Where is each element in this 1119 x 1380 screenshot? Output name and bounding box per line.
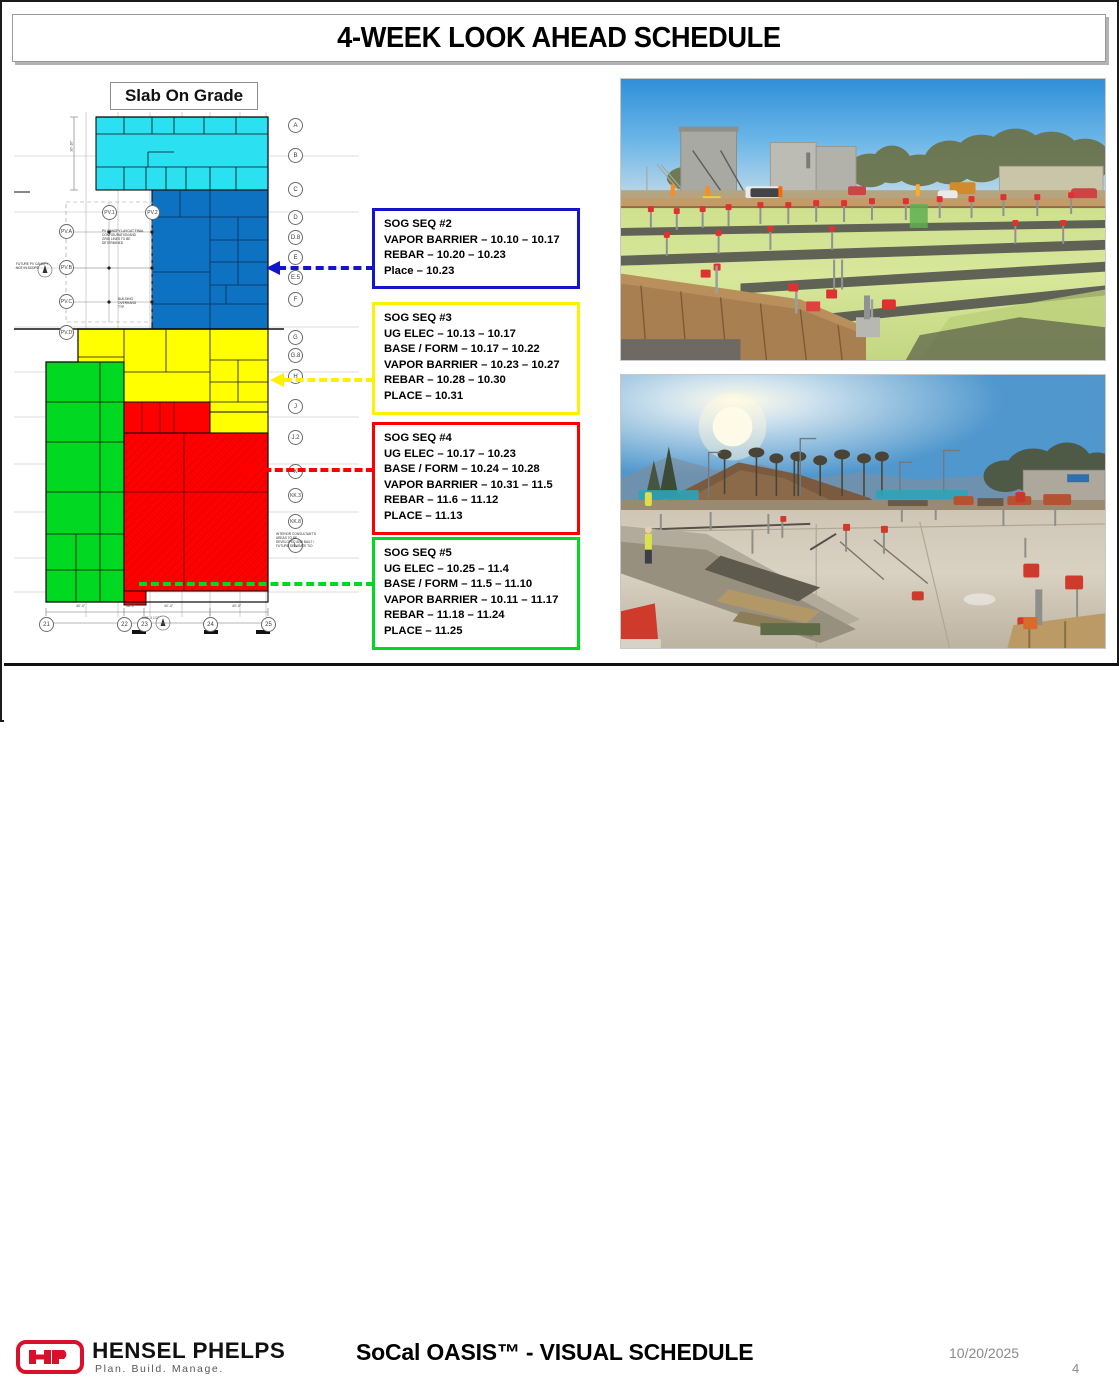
- connector-seq4: [252, 468, 374, 472]
- connector-seq2: [278, 266, 374, 270]
- grid-bubble-E: E: [288, 250, 303, 265]
- callout-seq5-line-3: BASE / FORM – 11.5 – 11.10: [384, 577, 569, 593]
- plan-dim-1: 40'-0": [76, 604, 85, 608]
- callout-seq4-line-1: SOG SEQ #4: [384, 431, 569, 447]
- callout-seq4-line-3: BASE / FORM – 10.24 – 10.28: [384, 462, 569, 478]
- grid-bubble-G: G: [288, 330, 303, 345]
- floor-plan-drawing: [14, 72, 359, 652]
- grid-bubble-21: 21: [39, 617, 54, 632]
- grid-bubble-A: A: [288, 118, 303, 133]
- connector-seq3: [284, 378, 374, 382]
- connector-seq4-arrowhead: [236, 463, 252, 477]
- grid-bubble-PVC: PV.C: [59, 294, 74, 309]
- plan-dim-total: 138'-4 1/2": [142, 616, 159, 620]
- grid-bubble-D: D: [288, 210, 303, 225]
- grid-bubble-PVA: PV.A: [59, 224, 74, 239]
- footer-bar: HENSEL PHELPS Plan. Build. Manage. SoCal…: [4, 666, 1119, 722]
- callout-seq4-line-4: VAPOR BARRIER – 10.31 – 11.5: [384, 478, 569, 494]
- callout-seq5-line-4: VAPOR BARRIER – 10.11 – 11.17: [384, 593, 569, 609]
- grid-bubble-PVD: PV.D: [59, 325, 74, 340]
- slab-on-grade-label: Slab On Grade: [110, 82, 258, 110]
- grid-bubble-PV2: PV.2: [145, 205, 160, 220]
- hp-logo-icon: [16, 1340, 84, 1374]
- slide-canvas: 4-WEEK LOOK AHEAD SCHEDULE: [0, 0, 1119, 722]
- grid-bubble-PVB: PV.B: [59, 260, 74, 275]
- grid-bubble-G8: G.8: [288, 348, 303, 363]
- grid-bubble-22: 22: [117, 617, 132, 632]
- floor-plan: A B C D D.8 E E.5 F G G.8 H J J.2 K KK.3…: [14, 72, 359, 652]
- plan-dim-4: 40'-0": [232, 604, 241, 608]
- callout-seq2-line-2: VAPOR BARRIER – 10.10 – 10.17: [384, 233, 569, 249]
- callout-sog-seq-2[interactable]: SOG SEQ #2 VAPOR BARRIER – 10.10 – 10.17…: [372, 208, 580, 289]
- company-name: HENSEL PHELPS: [92, 1338, 285, 1364]
- company-tagline: Plan. Build. Manage.: [95, 1363, 224, 1375]
- callout-seq5-line-5: REBAR – 11.18 – 11.24: [384, 608, 569, 624]
- callout-seq3-line-6: PLACE – 10.31: [384, 389, 569, 405]
- callout-seq2-line-1: SOG SEQ #2: [384, 217, 569, 233]
- plan-dim-3: 40'-0": [164, 604, 173, 608]
- callout-seq3-line-5: REBAR – 10.28 – 10.30: [384, 373, 569, 389]
- grid-bubble-PV1: PV.1: [102, 205, 117, 220]
- plan-note-overhang: BUILDING OVERHANG TYP: [118, 297, 136, 309]
- plan-dim-left: 36'-10": [70, 140, 74, 151]
- plan-dim-2: 18'-0": [126, 604, 135, 608]
- callout-seq3-line-4: VAPOR BARRIER – 10.23 – 10.27: [384, 358, 569, 374]
- callout-seq3-line-3: BASE / FORM – 10.17 – 10.22: [384, 342, 569, 358]
- photo-slab-vapor-barrier[interactable]: [620, 78, 1106, 361]
- grid-bubble-E5: E.5: [288, 270, 303, 285]
- callout-sog-seq-5[interactable]: SOG SEQ #5 UG ELEC – 10.25 – 11.4 BASE /…: [372, 537, 580, 650]
- grid-bubble-D8: D.8: [288, 230, 303, 245]
- hensel-phelps-logo: HENSEL PHELPS Plan. Build. Manage.: [16, 1338, 316, 1380]
- callout-sog-seq-4[interactable]: SOG SEQ #4 UG ELEC – 10.17 – 10.23 BASE …: [372, 422, 580, 535]
- grid-bubble-KK3: KK.3: [288, 488, 303, 503]
- callout-seq5-line-2: UG ELEC – 10.25 – 11.4: [384, 562, 569, 578]
- grid-bubble-C: C: [288, 182, 303, 197]
- callout-seq5-line-6: PLACE – 11.25: [384, 624, 569, 640]
- plan-note-pv-canopy: FUTURE PV CANOPY NOT IN SCOPE: [16, 262, 48, 270]
- grid-bubble-J2: J.2: [288, 430, 303, 445]
- footer-date: 10/20/2025: [949, 1345, 1019, 1361]
- callout-seq3-line-2: UG ELEC – 10.13 – 10.17: [384, 327, 569, 343]
- grid-bubble-F: F: [288, 292, 303, 307]
- connector-seq5: [139, 582, 374, 586]
- photo-slab-poured[interactable]: [620, 374, 1106, 649]
- slide-title-box: 4-WEEK LOOK AHEAD SCHEDULE: [12, 14, 1106, 62]
- callout-sog-seq-3[interactable]: SOG SEQ #3 UG ELEC – 10.13 – 10.17 BASE …: [372, 302, 580, 415]
- callout-seq3-line-1: SOG SEQ #3: [384, 311, 569, 327]
- callout-seq2-line-3: REBAR – 10.20 – 10.23: [384, 248, 569, 264]
- callout-seq4-line-2: UG ELEC – 10.17 – 10.23: [384, 447, 569, 463]
- plan-note-interior: INTERIOR CONSULTANT'S AREAS TO BE DEVELO…: [276, 532, 316, 548]
- grid-bubble-B: B: [288, 148, 303, 163]
- connector-seq3-arrowhead: [270, 373, 284, 387]
- plan-note-pv-layout: PV CANOPY LAYOUT FINAL CONFIGURATION AND…: [102, 229, 144, 245]
- callout-seq5-line-1: SOG SEQ #5: [384, 546, 569, 562]
- callout-seq2-line-4: Place – 10.23: [384, 264, 569, 280]
- callout-seq4-line-6: PLACE – 11.13: [384, 509, 569, 525]
- grid-bubble-25: 25: [261, 617, 276, 632]
- page-title: 4-WEEK LOOK AHEAD SCHEDULE: [337, 22, 781, 55]
- grid-bubble-24: 24: [203, 617, 218, 632]
- footer-project-title: SoCal OASIS™ - VISUAL SCHEDULE: [356, 1339, 753, 1366]
- connector-seq2-arrowhead: [266, 261, 280, 275]
- footer-page-number: 4: [1072, 1361, 1079, 1376]
- grid-bubble-J: J: [288, 399, 303, 414]
- grid-bubble-KK8: KK.8: [288, 514, 303, 529]
- callout-seq4-line-5: REBAR – 11.6 – 11.12: [384, 493, 569, 509]
